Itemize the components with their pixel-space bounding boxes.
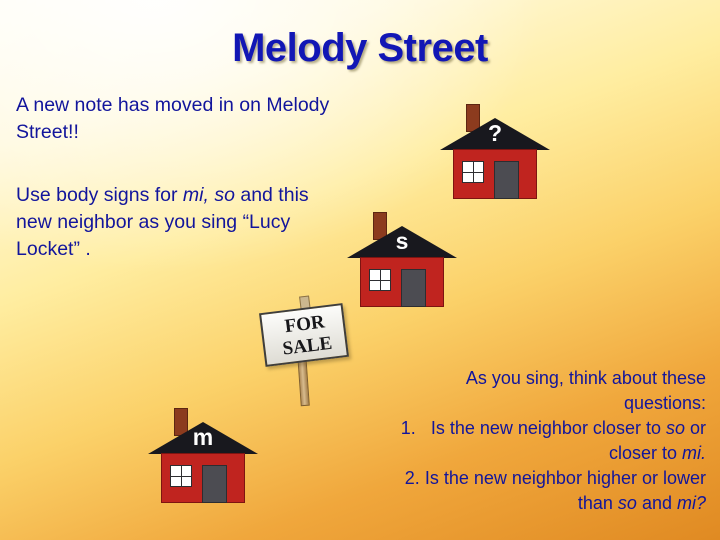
question-2: 2. Is the new neighbor higher or lower t… xyxy=(386,466,706,516)
house-so: s xyxy=(347,212,457,308)
page-title: Melody Street xyxy=(0,26,720,71)
sign-board: FOR SALE xyxy=(259,303,349,367)
instruction-part1: Use body signs for xyxy=(16,184,183,206)
instruction-emphasis-1: mi, so xyxy=(183,184,235,206)
question-1-part1: Is the new neighbor closer to xyxy=(431,418,666,438)
window-icon xyxy=(462,161,484,183)
question-1: 1. Is the new neighbor closer to so or c… xyxy=(386,416,706,466)
window-icon xyxy=(369,269,391,291)
question-1-emphasis-1: so xyxy=(666,418,685,438)
question-2-emphasis-2: mi? xyxy=(677,493,706,513)
question-1-number: 1. xyxy=(401,416,416,441)
slide-canvas: Melody Street A new note has moved in on… xyxy=(0,0,720,540)
house-label-mi: m xyxy=(148,426,258,449)
house-label-question: ? xyxy=(440,122,550,145)
door-icon xyxy=(202,465,227,503)
house-mi: m xyxy=(148,408,258,504)
window-icon xyxy=(170,465,192,487)
house-label-so: s xyxy=(347,230,457,253)
house-question: ? xyxy=(440,104,550,200)
question-2-part2: and xyxy=(637,493,677,513)
question-2-emphasis-1: so xyxy=(618,493,637,513)
door-icon xyxy=(401,269,426,307)
instruction-text: Use body signs for mi, so and this new n… xyxy=(16,182,346,263)
door-icon xyxy=(494,161,519,199)
intro-text: A new note has moved in on Melody Street… xyxy=(16,92,346,146)
question-1-emphasis-2: mi. xyxy=(682,443,706,463)
question-2-number: 2. xyxy=(405,466,420,491)
questions-block: As you sing, think about these questions… xyxy=(386,366,706,516)
questions-heading: As you sing, think about these questions… xyxy=(386,366,706,416)
for-sale-sign: FOR SALE xyxy=(254,296,364,408)
